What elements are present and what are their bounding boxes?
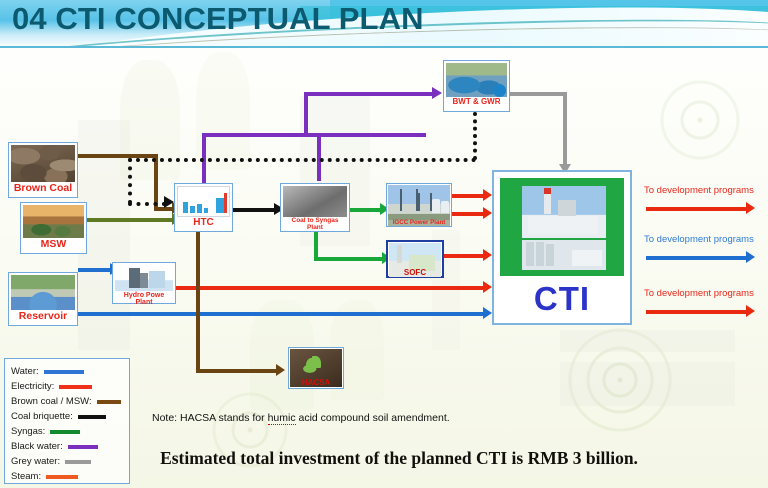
node-bwt-gwr-label: BWT & GWR xyxy=(446,97,507,106)
link-htc-hacsa-vert xyxy=(196,232,200,372)
slide-canvas: 04 CTI CONCEPTUAL PLAN xyxy=(0,0,768,488)
node-htc-label: HTC xyxy=(177,217,230,229)
note-underlined: humic xyxy=(268,412,296,425)
note-suffix: acid compound soil amendment. xyxy=(296,412,450,424)
footer-statement: Estimated total investment of the planne… xyxy=(0,448,768,469)
arrow-hydro-cti xyxy=(483,281,492,293)
link-syngas-blackwater-vert xyxy=(317,133,321,181)
arrow-htc-hacsa xyxy=(276,364,285,376)
node-msw-label: MSW xyxy=(23,238,84,250)
node-htc[interactable]: HTC xyxy=(174,183,233,232)
link-hydro-cti xyxy=(176,286,488,290)
link-syngas-sofc-horz xyxy=(314,257,386,261)
note-prefix: Note: HACSA stands for xyxy=(152,412,268,424)
page-title: 04 CTI CONCEPTUAL PLAN xyxy=(12,1,424,37)
arrow-blackwater-bwt xyxy=(432,87,442,99)
link-htc-syngas xyxy=(233,208,278,212)
output-line-3 xyxy=(646,310,750,314)
header-divider xyxy=(0,46,768,48)
legend-label-steam: Steam: xyxy=(11,471,41,482)
sofc-plant-photo: SOFC xyxy=(389,243,441,277)
link-reservoir-cti xyxy=(78,312,488,316)
node-bwt-gwr[interactable]: BWT & GWR xyxy=(443,60,510,112)
igcc-power-plant-photo: IGCC Power Plant xyxy=(388,185,450,226)
legend-swatch-water xyxy=(44,370,84,374)
node-brown-coal-label: Brown Coal xyxy=(11,182,75,194)
link-greywater-horz xyxy=(510,92,566,96)
node-hydro-power-plant[interactable]: Hydro Powe Plant xyxy=(112,262,176,304)
legend-label-brown-coal-msw: Brown coal / MSW: xyxy=(11,396,92,407)
node-igcc-power-plant[interactable]: IGCC Power Plant xyxy=(386,183,452,227)
link-briquette-horz xyxy=(128,158,476,162)
legend-label-electricity: Electricity: xyxy=(11,381,54,392)
legend-item-syngas: Syngas: xyxy=(11,424,125,439)
municipal-solid-waste-photo xyxy=(23,205,84,238)
node-igcc-power-plant-label: IGCC Power Plant xyxy=(388,220,450,227)
legend-label-coal-briquette: Coal briquette: xyxy=(11,411,73,422)
link-htc-blackwater-vert xyxy=(202,133,206,179)
node-hacsa-label: HACSA xyxy=(290,379,342,387)
node-sofc-label: SOFC xyxy=(389,269,441,277)
link-blackwater-to-bwt xyxy=(304,92,436,96)
cti-photo-lower xyxy=(522,240,606,270)
node-cti[interactable]: CTI xyxy=(492,170,632,325)
legend-swatch-syngas xyxy=(50,430,80,434)
legend-swatch-brown-coal-msw xyxy=(97,400,121,404)
output-arrow-3 xyxy=(746,305,755,317)
legend-item-steam: Steam: xyxy=(11,469,125,484)
cti-photo-upper xyxy=(522,186,606,238)
node-cti-label: CTI xyxy=(500,276,624,317)
legend-item-water: Water: xyxy=(11,364,125,379)
link-briquette-vert-right xyxy=(473,112,477,160)
legend-label-water: Water: xyxy=(11,366,39,377)
legend-label-syngas: Syngas: xyxy=(11,426,45,437)
syngas-plant-photo xyxy=(283,186,347,217)
recycle-badge-icon xyxy=(493,84,506,97)
link-greywater-vert xyxy=(563,92,567,166)
node-msw[interactable]: MSW xyxy=(20,202,87,254)
arrow-igcc-cti-2 xyxy=(483,207,492,219)
output-line-1 xyxy=(646,207,750,211)
hydro-power-plant-icon xyxy=(115,265,173,291)
node-reservoir-label: Reservoir xyxy=(11,310,75,322)
arrow-briquette-htc xyxy=(164,196,174,208)
node-brown-coal[interactable]: Brown Coal xyxy=(8,142,78,198)
legend-swatch-steam xyxy=(46,475,78,479)
node-hydro-power-plant-label: Hydro Powe Plant xyxy=(115,291,173,307)
link-syngas-sofc-vert xyxy=(314,232,318,260)
output-line-2 xyxy=(646,256,750,260)
seedling-photo: HACSA xyxy=(290,349,342,387)
htc-chart-icon xyxy=(177,186,230,217)
coal-photo xyxy=(11,145,75,182)
arrow-sofc-cti xyxy=(483,249,492,261)
node-sofc[interactable]: SOFC xyxy=(386,240,444,278)
output-label-3: To development programs xyxy=(644,288,754,299)
node-coal-to-syngas-plant[interactable]: Coal to Syngas Plant xyxy=(280,183,350,232)
arrow-reservoir-cti xyxy=(483,307,492,319)
legend-item-coal-briquette: Coal briquette: xyxy=(11,409,125,424)
cti-industrial-photo xyxy=(500,178,624,276)
output-arrow-2 xyxy=(746,251,755,263)
legend-swatch-electricity xyxy=(59,385,92,389)
node-coal-to-syngas-plant-label: Coal to Syngas Plant xyxy=(283,217,347,232)
link-blackwater-riser xyxy=(304,92,308,137)
link-briquette-vert-left xyxy=(128,158,132,204)
link-blackwater-horz-low xyxy=(202,133,426,137)
link-msw-htc xyxy=(78,218,174,222)
water-treatment-photo xyxy=(446,63,507,97)
output-label-1: To development programs xyxy=(644,185,754,196)
link-briquette-to-htc xyxy=(128,202,166,206)
reservoir-dam-photo xyxy=(11,275,75,310)
link-htc-hacsa-horz xyxy=(196,369,280,373)
footer-text: Estimated total investment of the planne… xyxy=(130,448,638,469)
node-hacsa[interactable]: HACSA xyxy=(288,347,344,389)
link-syngas-igcc xyxy=(350,208,384,212)
link-reservoir-hydro xyxy=(78,268,112,272)
note-text: Note: HACSA stands for humic acid compou… xyxy=(152,412,450,424)
link-sofc-cti xyxy=(444,254,488,258)
legend-item-electricity: Electricity: xyxy=(11,379,125,394)
legend-swatch-coal-briquette xyxy=(78,415,106,419)
node-reservoir[interactable]: Reservoir xyxy=(8,272,78,326)
output-label-2: To development programs xyxy=(644,234,754,245)
arrow-igcc-cti-1 xyxy=(483,189,492,201)
output-arrow-1 xyxy=(746,202,755,214)
legend-item-brown-coal-msw: Brown coal / MSW: xyxy=(11,394,125,409)
